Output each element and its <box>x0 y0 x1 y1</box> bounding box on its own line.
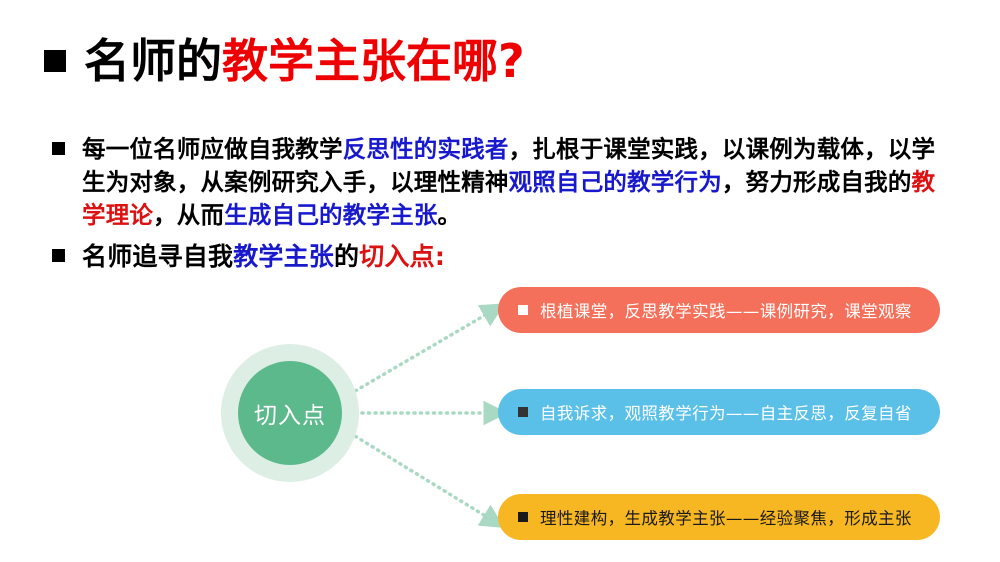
run-p1-0: 每一位名师应做自我教学 <box>82 135 343 163</box>
run-p1-6: ，从而 <box>153 201 224 229</box>
diagram-node-3[interactable]: 理性建构，生成教学主张——经验聚焦，形成主张 <box>498 494 940 540</box>
body-paragraph-1-text: 每一位名师应做自我教学反思性的实践者，扎根于课堂实践，以课例为载体，以学生为对象… <box>82 133 952 232</box>
hub-circle[interactable]: 切入点 <box>238 361 342 465</box>
body-bullet-2: 名师追寻自我教学主张的切入点: <box>52 240 952 273</box>
bullet-square-icon <box>52 249 65 262</box>
node-bullet-square-icon <box>518 512 528 522</box>
run-p1-7: 生成自己的教学主张 <box>224 201 437 229</box>
connector-arrow-1 <box>350 314 487 394</box>
entry-points-diagram: 切入点 根植课堂，反思教学实践——课例研究，课堂观察 自我诉求，观照教学行为——… <box>0 272 1000 562</box>
diagram-node-1[interactable]: 根植课堂，反思教学实践——课例研究，课堂观察 <box>498 287 940 333</box>
run-p2-1: 教学主张 <box>233 242 334 271</box>
title-text-black: 名师的 <box>84 34 222 88</box>
run-p1-8: 。 <box>438 201 462 229</box>
run-p2-3: 切入点: <box>359 242 445 271</box>
hub-label: 切入点 <box>254 396 326 430</box>
page-title: 名师的教学主张在哪? <box>44 38 525 84</box>
node-bullet-square-icon <box>518 305 528 315</box>
title-bullet-icon <box>44 50 66 72</box>
bullet-square-icon <box>52 142 65 155</box>
body-paragraph-2-text: 名师追寻自我教学主张的切入点: <box>82 240 445 273</box>
slide-canvas: 名师的教学主张在哪? 每一位名师应做自我教学反思性的实践者，扎根于课堂实践，以课… <box>0 0 1000 562</box>
body-bullet-1: 每一位名师应做自我教学反思性的实践者，扎根于课堂实践，以课例为载体，以学生为对象… <box>52 133 952 232</box>
run-p2-2: 的 <box>334 242 359 271</box>
diagram-node-1-text: 根植课堂，反思教学实践——课例研究，课堂观察 <box>540 298 912 322</box>
run-p1-4: ，努力形成自我的 <box>722 168 912 196</box>
diagram-node-2-text: 自我诉求，观照教学行为——自主反思，反复自省 <box>540 400 912 424</box>
title-text-red: 教学主张在哪? <box>222 34 525 88</box>
connector-arrow-3 <box>350 433 487 517</box>
diagram-node-3-text: 理性建构，生成教学主张——经验聚焦，形成主张 <box>540 505 912 529</box>
diagram-node-2[interactable]: 自我诉求，观照教学行为——自主反思，反复自省 <box>498 389 940 435</box>
run-p1-1: 反思性的实践者 <box>343 135 509 163</box>
run-p2-0: 名师追寻自我 <box>82 242 233 271</box>
run-p1-3: 观照自己的教学行为 <box>509 168 722 196</box>
node-bullet-square-icon <box>518 407 528 417</box>
